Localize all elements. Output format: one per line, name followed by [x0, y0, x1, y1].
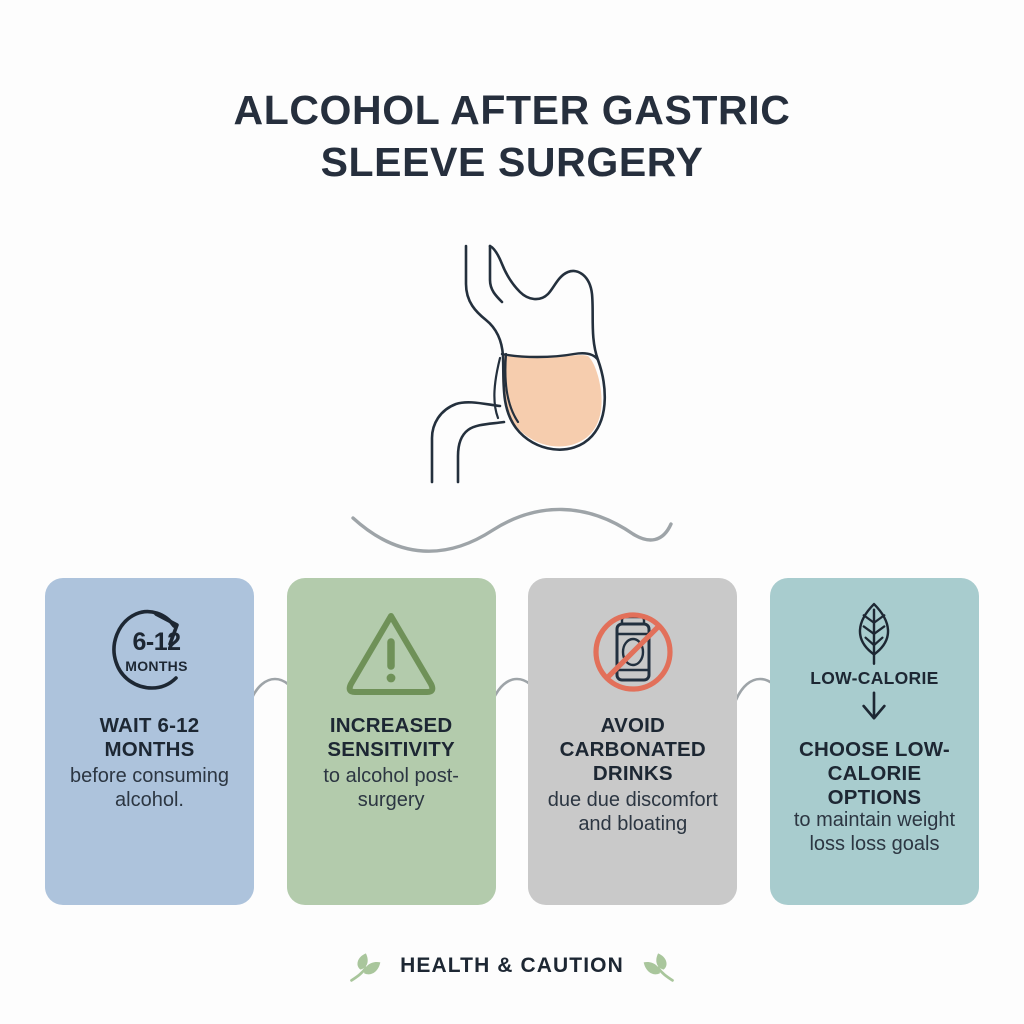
footer-label: HEALTH & CAUTION	[400, 954, 624, 978]
card-low-calorie[interactable]: LOW-CALORIE CHOOSE LOW-CALORIE OPTIONS t…	[770, 578, 979, 905]
card-avoid-carbonated-heading: AVOID CARBONATED DRINKS	[536, 714, 729, 786]
low-calorie-caption: LOW-CALORIE	[810, 668, 938, 689]
card-increased-sensitivity-heading: INCREASED SENSITIVITY	[295, 714, 488, 762]
title-line-1: ALCOHOL AFTER GASTRIC	[0, 84, 1024, 136]
footer: HEALTH & CAUTION	[0, 948, 1024, 984]
title-line-2: SLEEVE SURGERY	[0, 136, 1024, 188]
card-row: 6-12 MONTHS WAIT 6-12 MONTHS before cons…	[45, 578, 979, 908]
leaf-icon-group: LOW-CALORIE	[810, 600, 938, 722]
card-avoid-carbonated[interactable]: AVOID CARBONATED DRINKS due due discomfo…	[528, 578, 737, 905]
card-avoid-carbonated-body: due due discomfort and bloating	[536, 788, 729, 836]
card-increased-sensitivity[interactable]: INCREASED SENSITIVITY to alcohol post-su…	[287, 578, 496, 905]
circular-arrow-icon-wrap: 6-12 MONTHS	[53, 604, 246, 700]
circular-arrow-icon	[100, 604, 200, 700]
card-wait-period[interactable]: 6-12 MONTHS WAIT 6-12 MONTHS before cons…	[45, 578, 254, 905]
card-increased-sensitivity-body: to alcohol post-surgery	[295, 764, 488, 812]
stomach-icon	[382, 232, 642, 492]
infographic-canvas: ALCOHOL AFTER GASTRIC SLEEVE SURGERY	[0, 0, 1024, 1024]
page-title: ALCOHOL AFTER GASTRIC SLEEVE SURGERY	[0, 84, 1024, 189]
card-wait-period-body: before consuming alcohol.	[53, 764, 246, 812]
card-wait-period-heading: WAIT 6-12 MONTHS	[53, 714, 246, 762]
no-soda-can-icon	[583, 604, 683, 700]
card-low-calorie-heading: CHOOSE LOW-CALORIE OPTIONS	[778, 738, 971, 810]
leaf-icon	[846, 600, 902, 666]
warning-triangle-icon	[341, 606, 441, 698]
leaf-sprig-icon	[344, 948, 386, 984]
leaf-sprig-icon	[638, 948, 680, 984]
leaf-icon-wrap: LOW-CALORIE	[778, 604, 971, 724]
card-low-calorie-body: to maintain weight loss loss goals	[778, 808, 971, 856]
no-soda-can-icon-wrap	[536, 604, 729, 700]
wave-icon	[337, 498, 687, 554]
warning-triangle-icon-wrap	[295, 604, 488, 700]
wavy-divider	[337, 498, 687, 554]
down-arrow-icon	[854, 690, 894, 722]
gastric-sleeve-stomach-illustration	[382, 232, 642, 492]
